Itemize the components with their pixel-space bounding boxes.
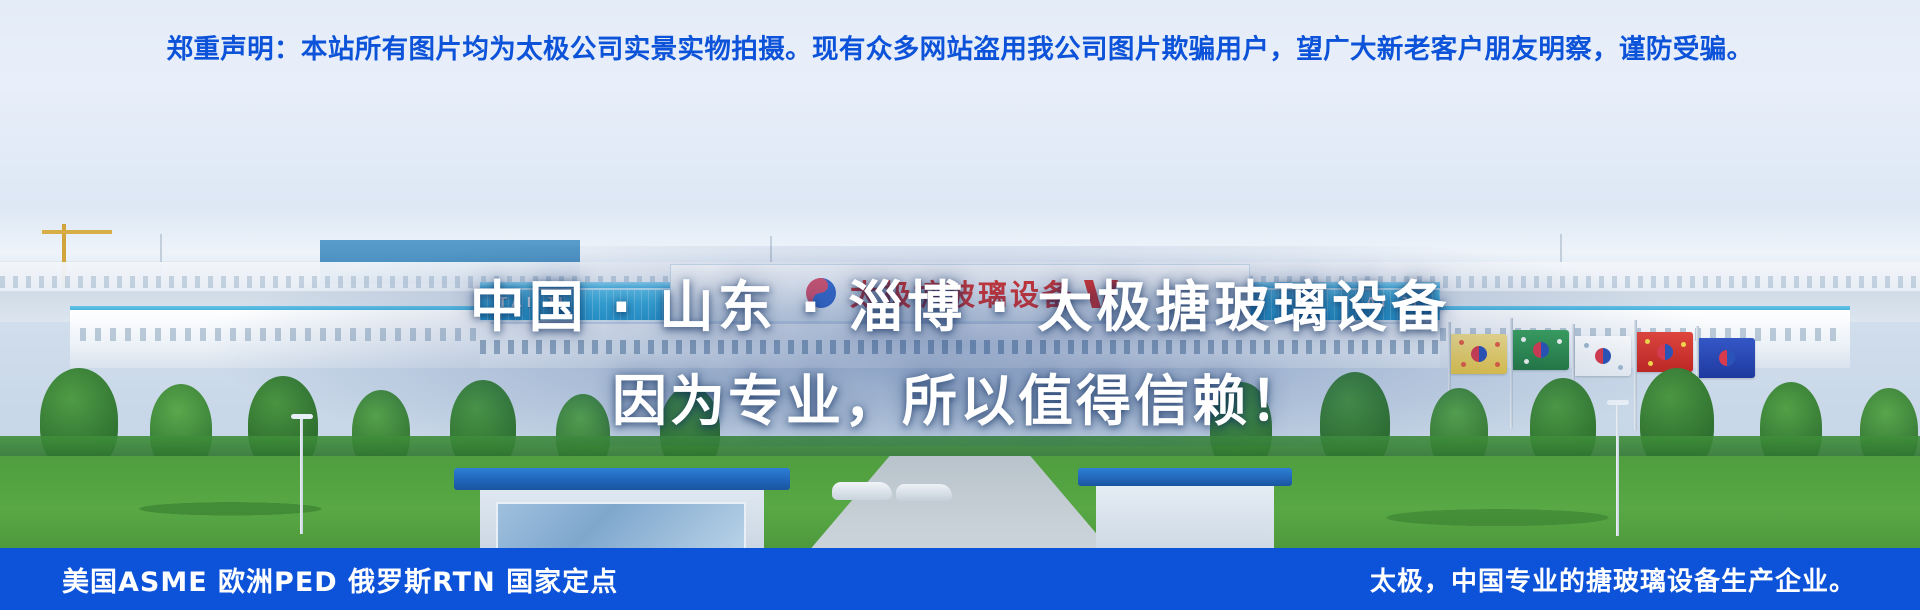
flag-dot (1521, 337, 1526, 342)
disclaimer-strip: 郑重声明：本站所有图片均为太极公司实景实物拍摄。现有众多网站盗用我公司图片欺骗用… (0, 0, 1920, 92)
flag-dot (1681, 342, 1686, 347)
gatehouse-body (1096, 486, 1274, 548)
company-tagline: 太极，中国专业的搪玻璃设备生产企业。 (1370, 561, 1856, 598)
factory-photo: TAI JI TAI JI 太极搪玻璃设备 (0, 84, 1920, 548)
disclaimer-text: 郑重声明：本站所有图片均为太极公司实景实物拍摄。现有众多网站盗用我公司图片欺骗用… (166, 27, 1753, 66)
parked-car (896, 484, 952, 501)
certification-list: 美国ASME 欧洲PED 俄罗斯RTN 国家定点 (62, 560, 618, 599)
street-lamp (300, 414, 303, 534)
secondary-gatehouse (1090, 468, 1280, 548)
roof-label-right: TAI JI (1352, 294, 1422, 311)
main-gatehouse (472, 468, 772, 548)
flag-dot (1495, 342, 1500, 347)
yin-yang-taiji-logo-icon (806, 278, 836, 308)
parked-car (832, 482, 892, 500)
flag-dot (1459, 340, 1464, 345)
site-hero-banner: 郑重声明：本站所有图片均为太极公司实景实物拍摄。现有众多网站盗用我公司图片欺骗用… (0, 0, 1920, 610)
roof-label-left: TAI JI (498, 294, 568, 311)
street-lamp (1616, 400, 1619, 536)
gatehouse-glass (496, 502, 746, 548)
left-wing-windows (80, 328, 480, 341)
flag-dot (1645, 339, 1650, 344)
gatehouse-roof (454, 468, 790, 490)
flag-dot (1584, 343, 1589, 348)
taiji-arrow-mark-icon (1088, 278, 1114, 308)
gatehouse-roof (1078, 468, 1292, 486)
building-sign-text: 太极搪玻璃设备 (850, 272, 1074, 314)
certification-bar: 美国ASME 欧洲PED 俄罗斯RTN 国家定点 太极，中国专业的搪玻璃设备生产… (0, 548, 1920, 610)
flag-dot (1557, 339, 1562, 344)
building-signboard: 太极搪玻璃设备 (670, 264, 1250, 322)
